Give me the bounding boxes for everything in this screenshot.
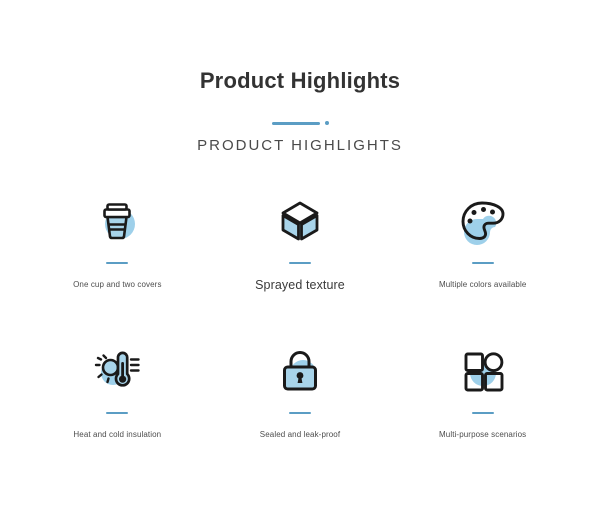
cube-box-icon (269, 190, 331, 252)
feature-label: Heat and cold insulation (73, 430, 161, 440)
item-accent-dash (289, 262, 311, 264)
features-grid: One cup and two covers Sprayed texture (0, 190, 600, 440)
thermometer-sun-icon (86, 340, 148, 402)
page-title: Product Highlights (0, 68, 600, 94)
page-header: Product Highlights PRODUCT HIGHLIGHTS (0, 0, 600, 154)
item-accent-dash (472, 262, 494, 264)
feature-label: Sealed and leak-proof (260, 430, 340, 440)
divider-line-icon (272, 122, 320, 125)
divider-dot-icon (325, 121, 329, 125)
four-shapes-grid-icon (452, 340, 514, 402)
item-accent-dash (106, 262, 128, 264)
title-divider (0, 118, 600, 128)
feature-label: Sprayed texture (255, 277, 345, 293)
feature-item: Heat and cold insulation (26, 340, 209, 440)
item-accent-dash (289, 412, 311, 414)
feature-label: Multi-purpose scenarios (439, 430, 526, 440)
page-subtitle: PRODUCT HIGHLIGHTS (0, 137, 600, 154)
product-highlights-page: Product Highlights PRODUCT HIGHLIGHTS On… (0, 0, 600, 526)
item-accent-dash (472, 412, 494, 414)
feature-item: Multi-purpose scenarios (391, 340, 574, 440)
feature-item: Sealed and leak-proof (209, 340, 392, 440)
coffee-cup-icon (86, 190, 148, 252)
feature-label: Multiple colors available (439, 280, 526, 290)
feature-item: Sprayed texture (209, 190, 392, 293)
item-accent-dash (106, 412, 128, 414)
feature-item: One cup and two covers (26, 190, 209, 293)
padlock-icon (269, 340, 331, 402)
feature-item: Multiple colors available (391, 190, 574, 293)
paint-palette-icon (452, 190, 514, 252)
feature-label: One cup and two covers (73, 280, 161, 290)
